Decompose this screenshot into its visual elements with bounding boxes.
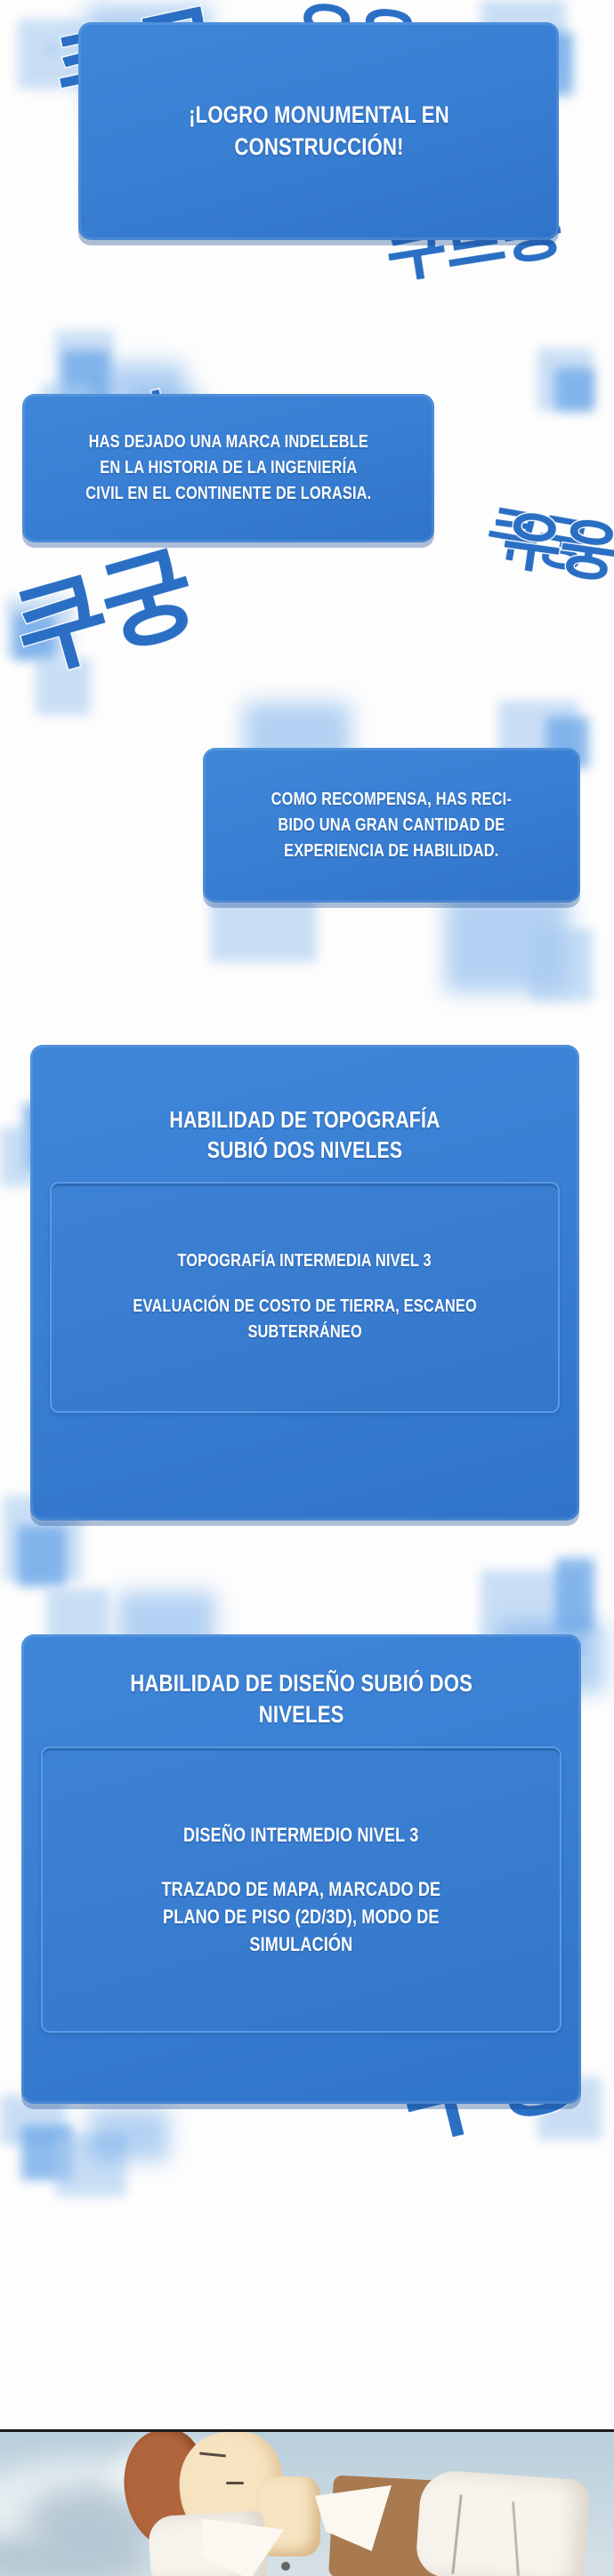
comic-page: 쿠궁 우웅 쿠르릉 끼 쿠궁 쿠궁 우웅 쿠궁 ¡LOGRO MONUMENTA… — [0, 0, 614, 2576]
deco-glyph-lower-right: 우웅 — [497, 487, 614, 596]
skill-topography-abilities: EVALUACIÓN DE COSTO DE TIERRA, ESCANEO S… — [133, 1294, 477, 1345]
skill-design-abilities: TRAZADO DE MAPA, MARCADO DE PLANO DE PIS… — [162, 1875, 441, 1959]
legacy-message-panel: HAS DEJADO UNA MARCA INDELEBLE EN LA HIS… — [22, 394, 434, 542]
manhwa-character-panel — [0, 2429, 614, 2576]
character-button — [281, 2562, 290, 2571]
reward-message-panel: COMO RECOMPENSA, HAS RECI- BIDO UNA GRAN… — [203, 748, 580, 903]
skill-design-panel: HABILIDAD DE DISEÑO SUBIÓ DOS NIVELES DI… — [21, 1634, 581, 2104]
character-shirt-sleeve — [415, 2469, 591, 2576]
achievement-title-text: ¡LOGRO MONUMENTAL EN CONSTRUCCIÓN! — [189, 100, 449, 162]
skill-topography-panel: HABILIDAD DE TOPOGRAFÍA SUBIÓ DOS NIVELE… — [30, 1045, 579, 1521]
skill-topography-detail-box: TOPOGRAFÍA INTERMEDIA NIVEL 3 EVALUACIÓN… — [50, 1182, 560, 1413]
skill-design-detail-box: DISEÑO INTERMEDIO NIVEL 3 TRAZADO DE MAP… — [41, 1746, 561, 2033]
skill-design-heading: HABILIDAD DE DISEÑO SUBIÓ DOS NIVELES — [130, 1668, 473, 1730]
legacy-message-text: HAS DEJADO UNA MARCA INDELEBLE EN LA HIS… — [85, 429, 371, 507]
character-mouth — [226, 2482, 244, 2484]
character-figure — [0, 2432, 614, 2576]
reward-message-text: COMO RECOMPENSA, HAS RECI- BIDO UNA GRAN… — [271, 787, 512, 864]
skill-design-level: DISEÑO INTERMEDIO NIVEL 3 — [183, 1821, 418, 1849]
achievement-title-panel: ¡LOGRO MONUMENTAL EN CONSTRUCCIÓN! — [78, 22, 559, 240]
skill-topography-level: TOPOGRAFÍA INTERMEDIA NIVEL 3 — [178, 1248, 432, 1274]
skill-topography-heading: HABILIDAD DE TOPOGRAFÍA SUBIÓ DOS NIVELE… — [169, 1105, 440, 1166]
